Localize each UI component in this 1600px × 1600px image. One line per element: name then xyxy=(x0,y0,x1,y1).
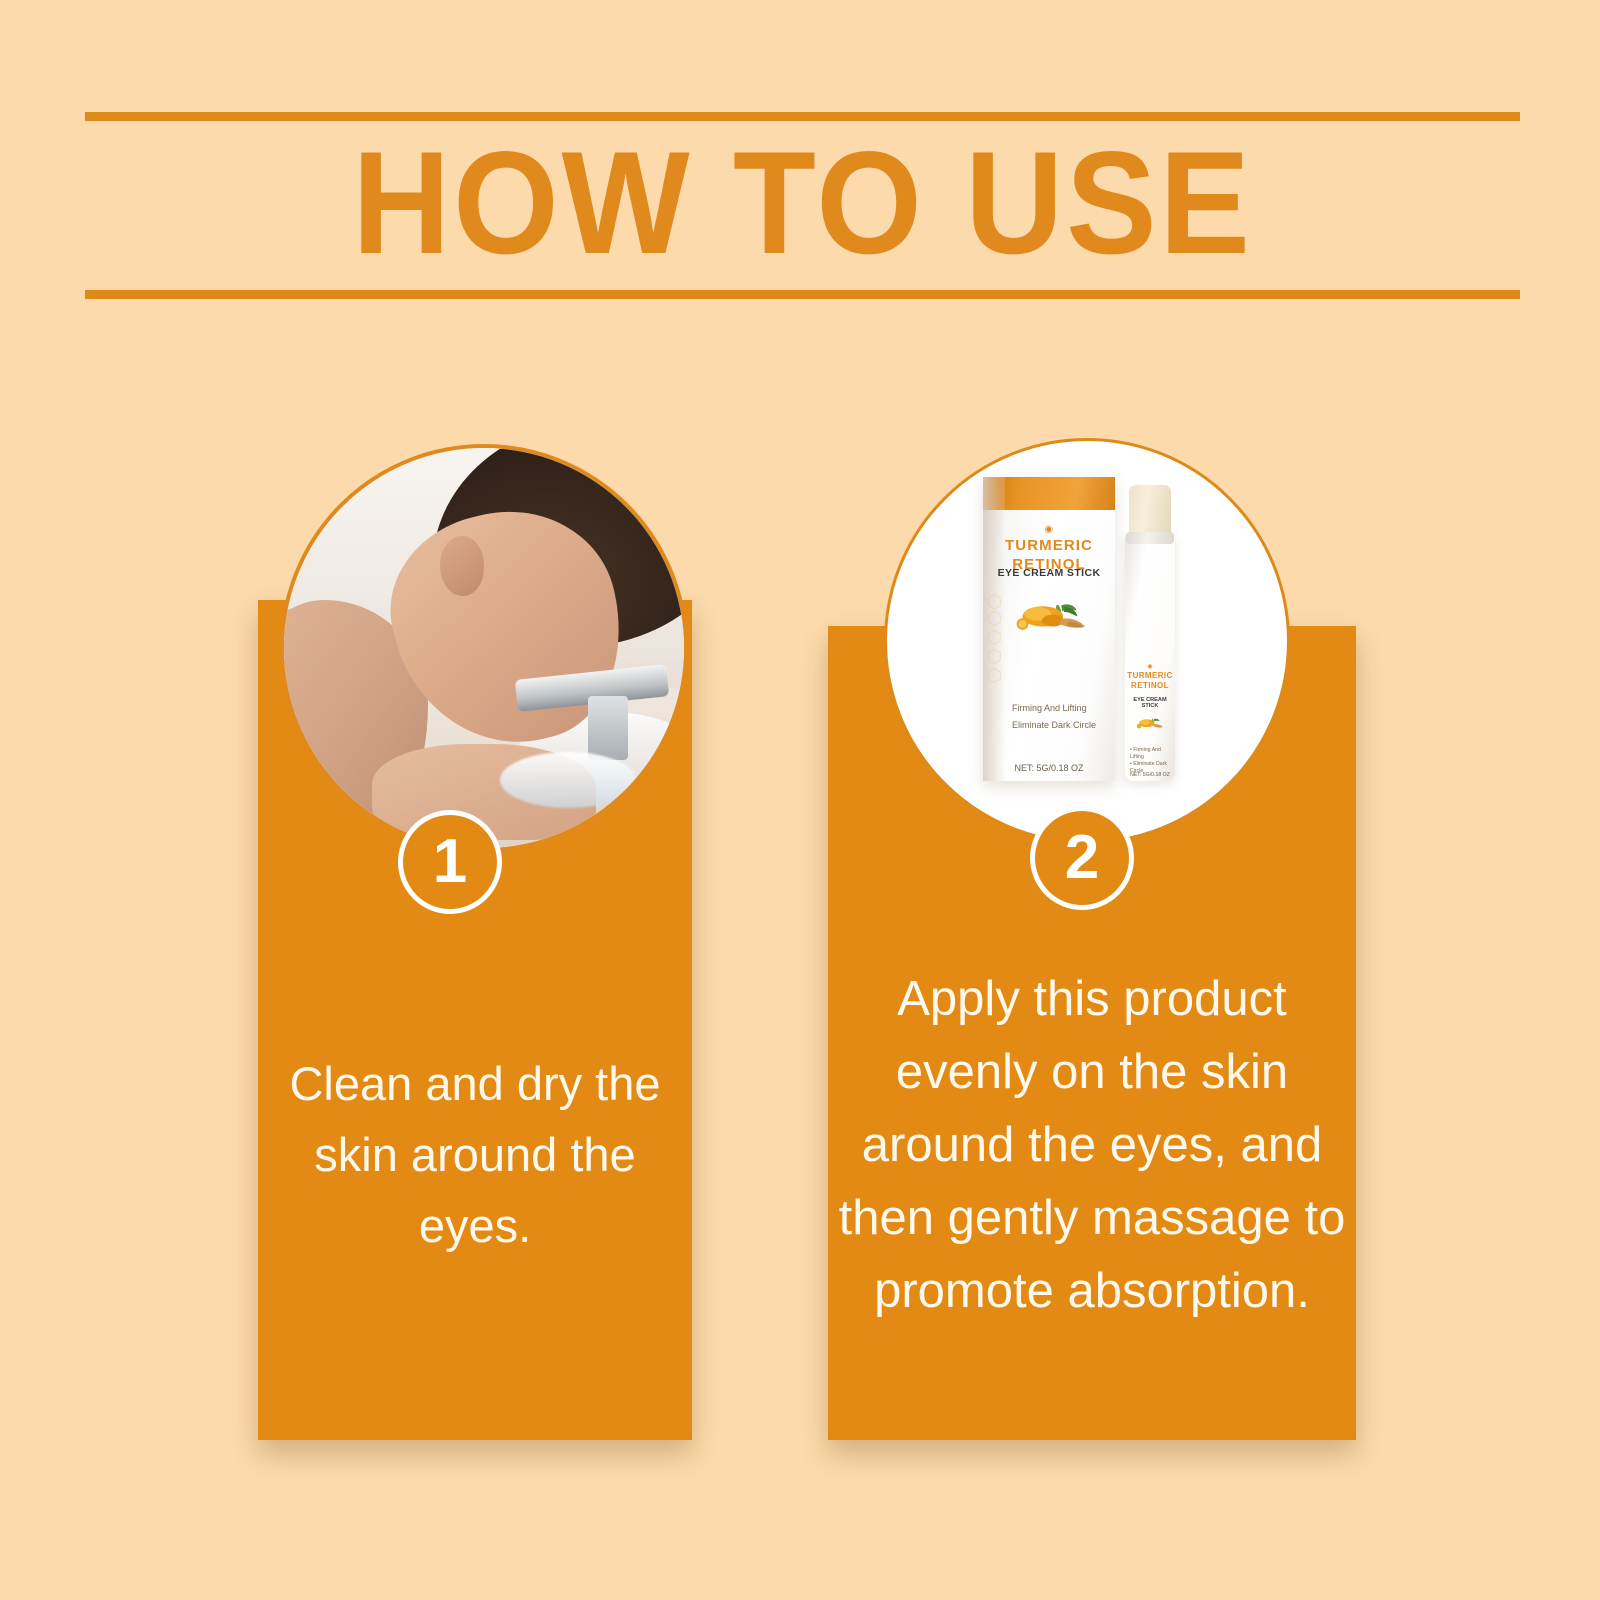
product-brand-line-1: TURMERIC xyxy=(983,536,1115,555)
product-stick-body xyxy=(1125,532,1175,781)
stick-bullet-1: • Firming And Lifting xyxy=(1130,747,1173,761)
stick-turmeric-root-icon xyxy=(1134,707,1166,740)
photo-faucet-spout xyxy=(588,696,628,760)
product-bullet-2: Eliminate Dark Circle xyxy=(1012,719,1110,731)
stick-brand-line-1: TURMERIC xyxy=(1125,671,1175,681)
step-number-badge-2: 2 xyxy=(1030,806,1134,910)
steps-container: 1 Clean and dry the skin around the eyes… xyxy=(0,0,1600,1600)
photo-ear xyxy=(440,536,484,596)
product-stick-cap xyxy=(1129,485,1171,538)
photo-water xyxy=(500,752,636,808)
product-photo: ◉ TURMERIC RETINOL EYE CREAM STICK xyxy=(887,441,1287,841)
stick-brand-line-2: RETINOL xyxy=(1125,681,1175,691)
stick-net-weight: NET: 5G/0.18 OZ xyxy=(1125,772,1175,778)
step-1-description: Clean and dry the skin around the eyes. xyxy=(262,1048,688,1261)
step-2-image: ◉ TURMERIC RETINOL EYE CREAM STICK xyxy=(884,438,1290,844)
product-bullet-1: Firming And Lifting xyxy=(1012,702,1110,714)
product-subtitle: EYE CREAM STICK xyxy=(983,567,1115,579)
step-1-image xyxy=(280,444,688,852)
eye-icon: ◉ xyxy=(983,524,1115,535)
step-number-badge-1: 1 xyxy=(398,810,502,914)
turmeric-root-icon xyxy=(1009,586,1093,647)
stick-eye-icon: ◉ xyxy=(1125,663,1175,670)
product-net-weight: NET: 5G/0.18 OZ xyxy=(983,763,1115,773)
product-stick: ◉ TURMERIC RETINOL EYE CREAM STICK xyxy=(1125,485,1175,781)
product-stick-neck xyxy=(1126,532,1174,544)
woman-washing-face-photo xyxy=(284,448,684,848)
product-box: ◉ TURMERIC RETINOL EYE CREAM STICK xyxy=(983,477,1115,781)
step-2-description: Apply this product evenly on the skin ar… xyxy=(836,963,1348,1328)
